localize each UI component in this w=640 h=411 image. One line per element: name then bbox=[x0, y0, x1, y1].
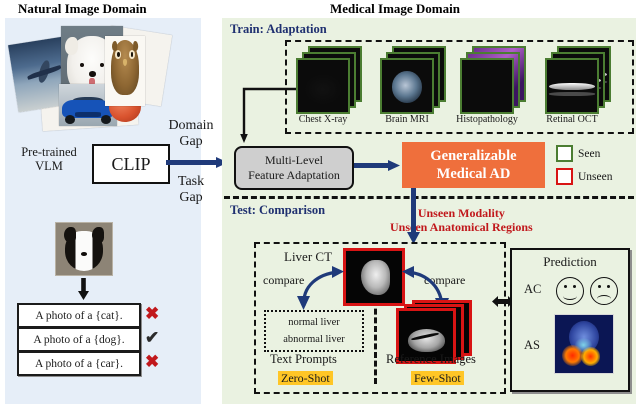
gen-ad-line2: Medical AD bbox=[437, 165, 511, 183]
domain-gap-label: Domain Gap bbox=[160, 118, 222, 150]
prompt-mark-incorrect: ✖ bbox=[145, 352, 159, 371]
prediction-box: Prediction AC AS bbox=[510, 248, 630, 392]
page-title-medical: Medical Image Domain bbox=[330, 1, 460, 17]
few-shot-badge: Few-Shot bbox=[411, 369, 464, 387]
eye-right bbox=[607, 285, 610, 288]
zero-few-shot-separator bbox=[374, 300, 377, 384]
text-prompts-dotted-box: normal liver abnormal liver bbox=[264, 310, 364, 352]
vlm-label-line2: VLM bbox=[6, 159, 92, 173]
multi-level-feature-adaptation-box[interactable]: Multi-Level Feature Adaptation bbox=[234, 146, 354, 190]
sad-face-icon bbox=[590, 277, 618, 305]
few-shot-badge-text: Few-Shot bbox=[411, 371, 464, 385]
modality-label: Brain MRI bbox=[372, 114, 442, 125]
owl-eye-left bbox=[115, 50, 121, 59]
genad-to-test-arrow-icon bbox=[407, 188, 420, 244]
dog-ear-left bbox=[65, 37, 78, 55]
modality-stack-brain-mri: Brain MRI bbox=[380, 46, 434, 112]
modality-stack-chest-xray: Chest X-ray bbox=[296, 46, 350, 112]
eye-right bbox=[573, 285, 576, 288]
mri-thumb-front bbox=[380, 58, 434, 114]
frown-mouth bbox=[597, 295, 611, 303]
prompt-box[interactable]: A photo of a {dog}. bbox=[17, 327, 141, 352]
legend-seen: Seen bbox=[556, 145, 600, 162]
owl-photo bbox=[105, 36, 145, 106]
prompt-box[interactable]: A photo of a {car}. bbox=[17, 351, 141, 376]
liver-blob bbox=[361, 260, 390, 294]
task-gap-line1: Task bbox=[160, 174, 222, 190]
dog-eye-right bbox=[100, 63, 105, 67]
histo-thumb-front bbox=[460, 58, 514, 114]
domain-gap-line2: Gap bbox=[160, 134, 222, 150]
text-prompt-abnormal: abnormal liver bbox=[266, 331, 362, 348]
page-title-natural: Natural Image Domain bbox=[18, 1, 147, 17]
down-arrow-icon bbox=[78, 278, 89, 300]
dog-eye-left bbox=[80, 63, 85, 67]
legend-label-seen: Seen bbox=[578, 148, 600, 160]
liver-ct-query-image bbox=[343, 248, 405, 306]
modality-label: Retinal OCT bbox=[537, 114, 607, 125]
smile-mouth bbox=[563, 292, 577, 300]
ac-label: AC bbox=[524, 282, 541, 297]
clip-label: CLIP bbox=[111, 154, 150, 175]
gen-ad-line1: Generalizable bbox=[430, 147, 516, 165]
collie-ear-left bbox=[64, 227, 76, 243]
car-grill bbox=[75, 112, 101, 117]
reference-images-stack bbox=[396, 300, 468, 358]
test-section-title: Test: Comparison bbox=[230, 203, 325, 218]
reference-liver-blob bbox=[408, 329, 446, 352]
compare-left-arrow-icon bbox=[296, 262, 346, 314]
mlfa-line1: Multi-Level bbox=[265, 153, 323, 168]
dog-nose bbox=[89, 71, 96, 76]
collie-ear-right bbox=[92, 227, 104, 243]
prompt-mark-correct: ✔ bbox=[145, 328, 159, 347]
modality-stack-retinal-oct: Retinal OCT bbox=[545, 46, 599, 112]
car-wheel-left bbox=[65, 115, 75, 124]
owl-eye-right bbox=[129, 50, 135, 59]
zero-shot-badge: Zero-Shot bbox=[278, 369, 333, 387]
prompt-text: A photo of a {cat}. bbox=[35, 310, 122, 322]
prompt-mark-incorrect: ✖ bbox=[145, 304, 159, 323]
mlfa-to-genad-arrow-icon bbox=[354, 160, 400, 171]
zero-shot-badge-text: Zero-Shot bbox=[278, 371, 333, 385]
as-label: AS bbox=[524, 338, 540, 353]
prompt-row[interactable]: A photo of a {cat}. ✖ bbox=[17, 303, 167, 325]
unseen-swatch-icon bbox=[556, 168, 573, 185]
generalizable-medical-ad-box[interactable]: Generalizable Medical AD bbox=[402, 142, 545, 188]
seen-swatch-icon bbox=[556, 145, 573, 162]
anomaly-heatmap bbox=[554, 314, 614, 374]
domain-gap-line1: Domain bbox=[160, 118, 222, 134]
prompt-row[interactable]: A photo of a {car}. ✖ bbox=[17, 351, 167, 373]
border-collie-test-image bbox=[55, 222, 113, 276]
oct-thumb-front bbox=[545, 58, 599, 114]
modality-label: Histopathology bbox=[452, 114, 522, 125]
owl-body bbox=[111, 40, 140, 95]
text-prompts-label: Text Prompts bbox=[270, 352, 337, 367]
prompt-text: A photo of a {car}. bbox=[35, 358, 123, 370]
gap-arrow-icon bbox=[166, 157, 228, 168]
eye-left bbox=[564, 285, 567, 288]
task-gap-line2: Gap bbox=[160, 190, 222, 206]
reference-images-label: Reference Images bbox=[386, 352, 476, 367]
train-to-mlfa-connector-icon bbox=[240, 86, 298, 148]
prompt-box[interactable]: A photo of a {cat}. bbox=[17, 303, 141, 328]
modality-stack-histopathology: Histopathology bbox=[460, 46, 514, 112]
train-test-divider bbox=[224, 196, 634, 199]
modality-label: Chest X-ray bbox=[288, 114, 358, 125]
text-prompt-normal: normal liver bbox=[266, 314, 362, 331]
clip-box[interactable]: CLIP bbox=[92, 144, 170, 184]
prompt-row[interactable]: A photo of a {dog}. ✔ bbox=[17, 327, 167, 349]
prompt-text: A photo of a {dog}. bbox=[33, 334, 124, 346]
train-section-title: Train: Adaptation bbox=[230, 22, 327, 37]
pretrained-vlm-label: Pre-trained VLM bbox=[6, 145, 92, 173]
xray-thumb-front bbox=[296, 58, 350, 114]
mlfa-line2: Feature Adaptation bbox=[248, 168, 340, 183]
heatmap-region-cyan bbox=[575, 338, 592, 352]
owl-beak bbox=[123, 59, 126, 66]
legend-label-unseen: Unseen bbox=[578, 171, 613, 183]
task-gap-label: Task Gap bbox=[160, 174, 222, 206]
legend-unseen: Unseen bbox=[556, 168, 613, 185]
eye-left bbox=[598, 285, 601, 288]
prediction-title: Prediction bbox=[512, 254, 628, 270]
smiley-face-icon bbox=[556, 277, 584, 305]
vlm-label-line1: Pre-trained bbox=[6, 145, 92, 159]
